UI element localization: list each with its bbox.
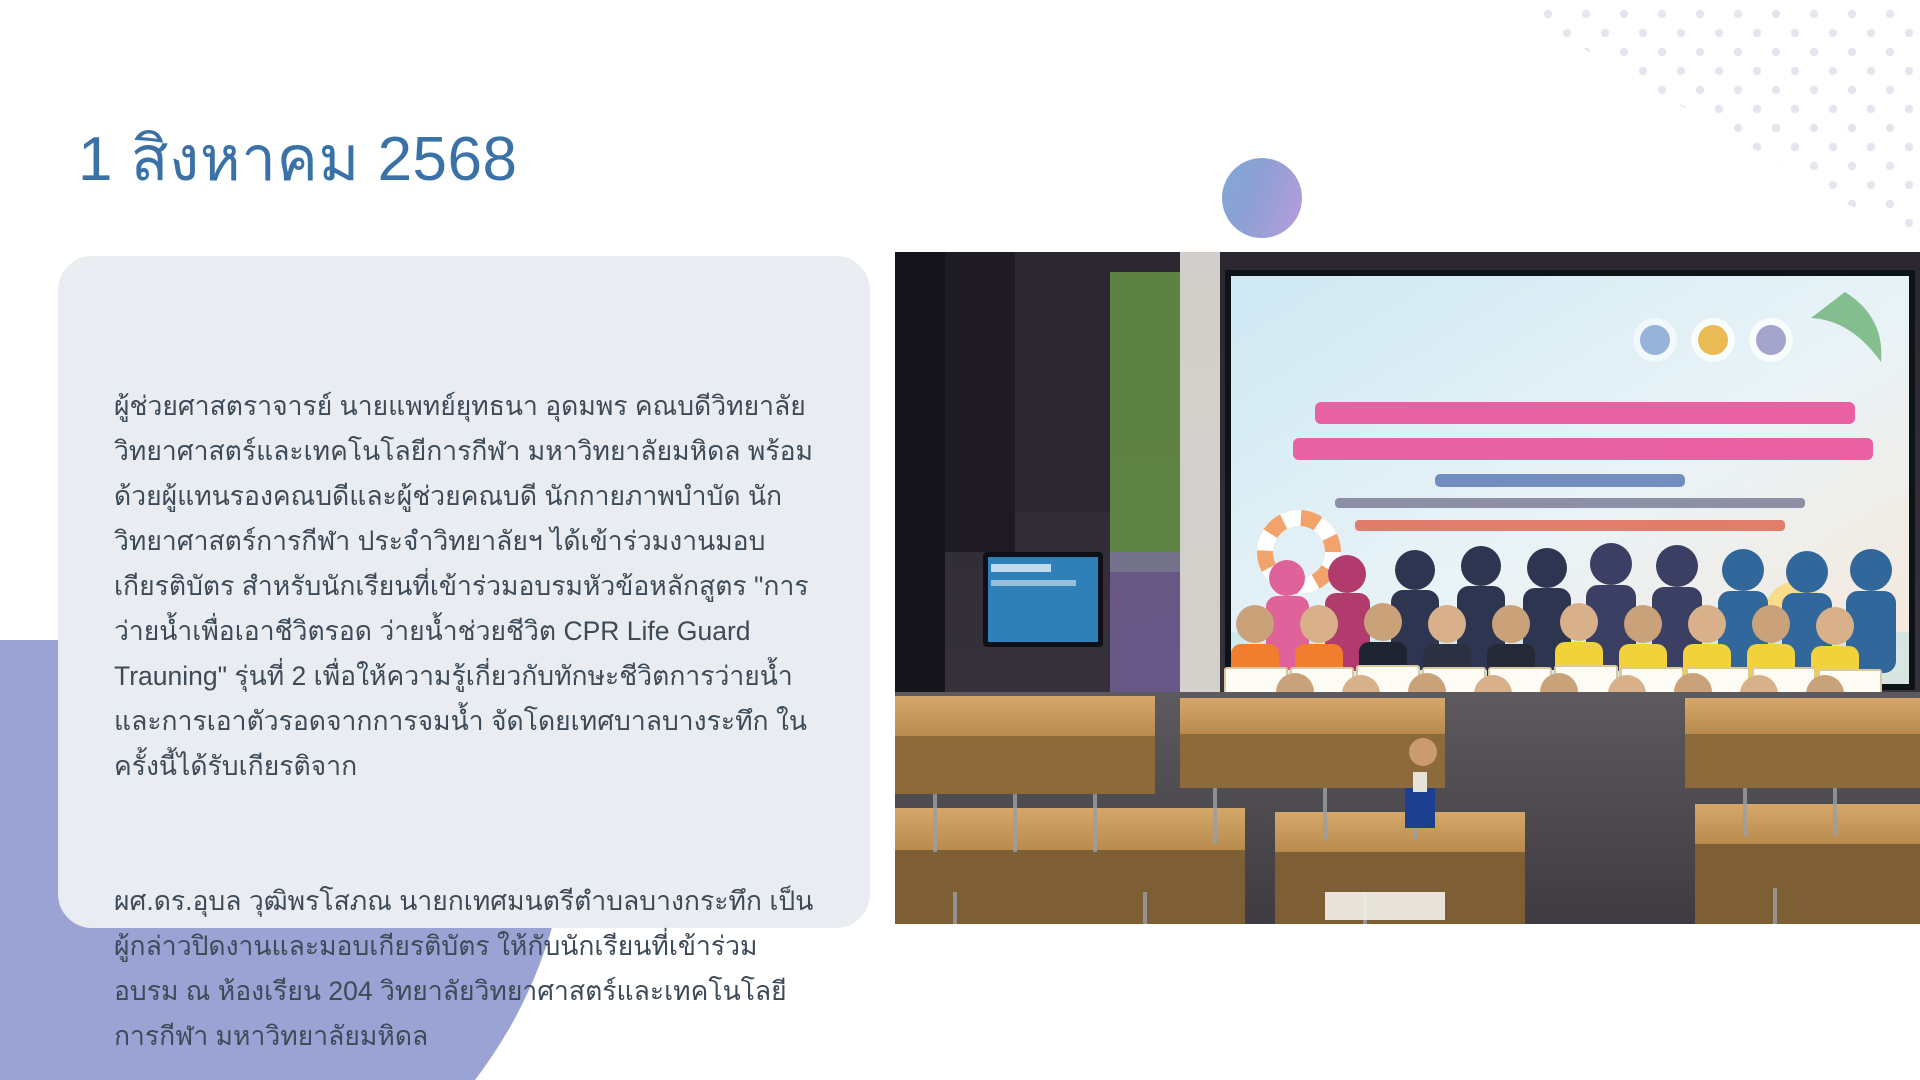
- body-paragraph-1: ผู้ช่วยศาสตราจารย์ นายแพทย์ยุทธนา อุดมพร…: [114, 384, 814, 789]
- body-text-block: ผู้ช่วยศาสตราจารย์ นายแพทย์ยุทธนา อุดมพร…: [114, 294, 814, 1080]
- event-photo: [895, 252, 1920, 924]
- page-title: 1 สิงหาคม 2568: [78, 126, 518, 194]
- gradient-circle-decoration: [1222, 158, 1302, 238]
- body-paragraph-2: ผศ.ดร.อุบล วุฒิพรโสภณ นายกเทศมนตรีตำบลบา…: [114, 879, 814, 1059]
- slide-root: 1 สิงหาคม 2568 ผู้ช่วยศาสตราจารย์ นายแพท…: [0, 0, 1920, 1080]
- text-card: ผู้ช่วยศาสตราจารย์ นายแพทย์ยุทธนา อุดมพร…: [58, 256, 870, 928]
- dot-pattern-decoration: [1200, 0, 1920, 270]
